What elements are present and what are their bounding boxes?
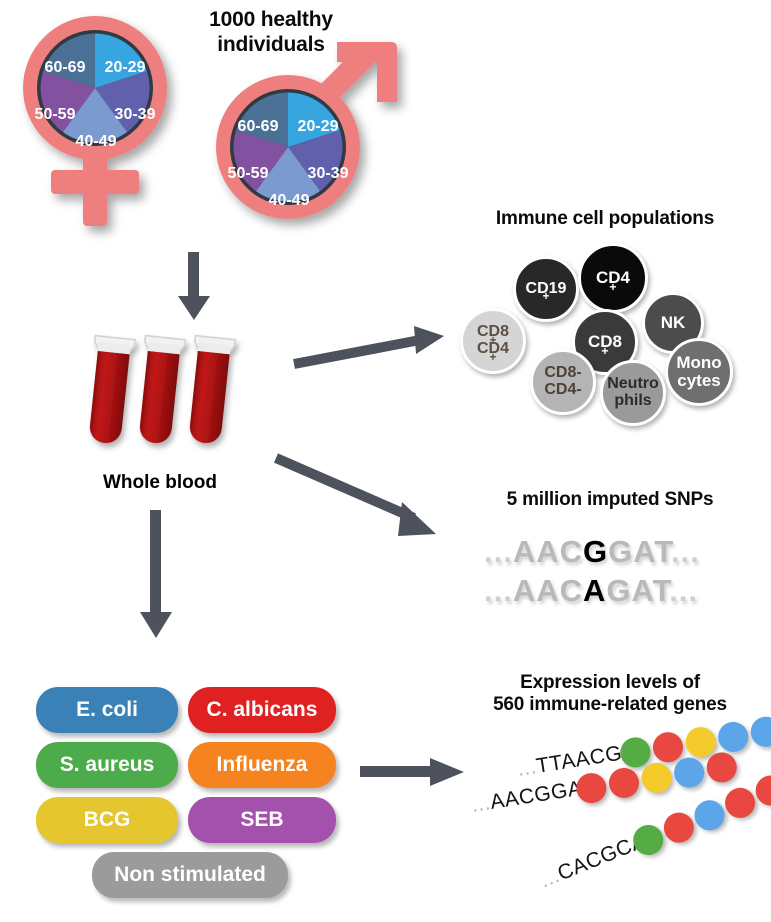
immune-cell-neutrophils: Neutro phils bbox=[600, 360, 666, 426]
stimulation-s-aureus[interactable]: S. aureus bbox=[36, 742, 178, 788]
figure-canvas: 1000 healthy individuals Immune cell pop… bbox=[0, 0, 771, 922]
snp-highlight-allele: G bbox=[583, 534, 608, 569]
cell-label-line1: NK bbox=[661, 314, 686, 332]
cell-label-line1: Mono bbox=[676, 354, 721, 372]
stimulation-seb[interactable]: SEB bbox=[188, 797, 336, 843]
stimulation-label: C. albicans bbox=[207, 698, 318, 722]
arrow-blood-to-stimulations bbox=[132, 510, 182, 640]
snp-sequence-row-1: ...AACGGAT... bbox=[484, 534, 700, 570]
cell-label-line1: CD8+ bbox=[477, 324, 509, 341]
stimulation-c-albicans[interactable]: C. albicans bbox=[188, 687, 336, 733]
expression-panel-title: Expression levels of 560 immune-related … bbox=[455, 672, 765, 717]
immune-cell-cd8pos-cd4pos: CD8+ CD4+ bbox=[460, 308, 526, 374]
cell-label-line2: CD4+ bbox=[477, 341, 509, 358]
male-gender-symbol: 20-29 30-39 40-49 50-59 60-69 bbox=[200, 35, 415, 250]
strand-bead bbox=[716, 720, 750, 754]
strand-bead bbox=[690, 796, 729, 835]
snp-suffix: ... bbox=[671, 534, 700, 569]
arrow-stimulations-to-expression bbox=[360, 752, 470, 792]
cell-label-line2: cytes bbox=[677, 372, 720, 390]
cell-label-line1: CD8- bbox=[544, 365, 581, 382]
immune-cell-cd4pos: CD4+ bbox=[578, 243, 648, 313]
snp-post: GAT bbox=[606, 573, 669, 608]
snp-panel-title: 5 million imputed SNPs bbox=[460, 489, 760, 511]
cell-label-line1: Neutro bbox=[607, 376, 659, 393]
arrow-blood-to-immune bbox=[292, 322, 452, 382]
immune-cell-cd19pos: CD19+ bbox=[513, 256, 579, 322]
cell-label-line1: CD4+ bbox=[596, 269, 630, 287]
snp-suffix: ... bbox=[669, 573, 698, 608]
snp-pre: AAC bbox=[513, 534, 583, 569]
whole-blood-label: Whole blood bbox=[60, 472, 260, 494]
stimulation-label: S. aureus bbox=[60, 753, 155, 777]
stimulation-label: E. coli bbox=[76, 698, 138, 722]
immune-cell-cd8neg-cd4neg: CD8- CD4- bbox=[530, 349, 596, 415]
snp-prefix: ... bbox=[484, 534, 513, 569]
immune-cell-monocytes: Mono cytes bbox=[665, 338, 733, 406]
stimulation-influenza[interactable]: Influenza bbox=[188, 742, 336, 788]
strand-bead bbox=[705, 750, 739, 784]
stimulation-label: SEB bbox=[240, 808, 283, 832]
arrow-blood-to-snps bbox=[274, 452, 454, 552]
stimulation-bcg[interactable]: BCG bbox=[36, 797, 178, 843]
strand-bead bbox=[749, 715, 771, 749]
stimulation-label: Non stimulated bbox=[114, 863, 266, 887]
snp-highlight-allele: A bbox=[583, 573, 606, 608]
cell-label-line1: CD8+ bbox=[588, 333, 622, 351]
arrow-cohort-to-blood bbox=[170, 252, 220, 322]
stimulation-label: Influenza bbox=[216, 753, 307, 777]
expression-title-line1: Expression levels of bbox=[455, 672, 765, 694]
strand-bead bbox=[639, 761, 673, 795]
blood-tubes bbox=[88, 330, 268, 475]
snp-post: GAT bbox=[608, 534, 671, 569]
immune-panel-title: Immune cell populations bbox=[455, 208, 755, 230]
snp-sequence-row-2: ...AACAGAT... bbox=[484, 573, 698, 609]
cell-label-line1: CD19+ bbox=[526, 281, 567, 298]
female-gender-symbol: 20-29 30-39 40-49 50-59 60-69 bbox=[8, 10, 223, 240]
cell-label-line2: phils bbox=[614, 393, 651, 410]
snp-prefix: ... bbox=[484, 573, 513, 608]
strand-bead bbox=[672, 755, 706, 789]
cell-label-line2: CD4- bbox=[544, 382, 581, 399]
expression-title-line2: 560 immune-related genes bbox=[455, 694, 765, 716]
strand-bead bbox=[659, 808, 698, 847]
stimulation-e-coli[interactable]: E. coli bbox=[36, 687, 178, 733]
stimulation-non-stimulated[interactable]: Non stimulated bbox=[92, 852, 288, 898]
stimulation-label: BCG bbox=[84, 808, 131, 832]
snp-pre: AAC bbox=[513, 573, 583, 608]
strand-bead bbox=[721, 783, 760, 822]
strand-bead bbox=[607, 766, 641, 800]
